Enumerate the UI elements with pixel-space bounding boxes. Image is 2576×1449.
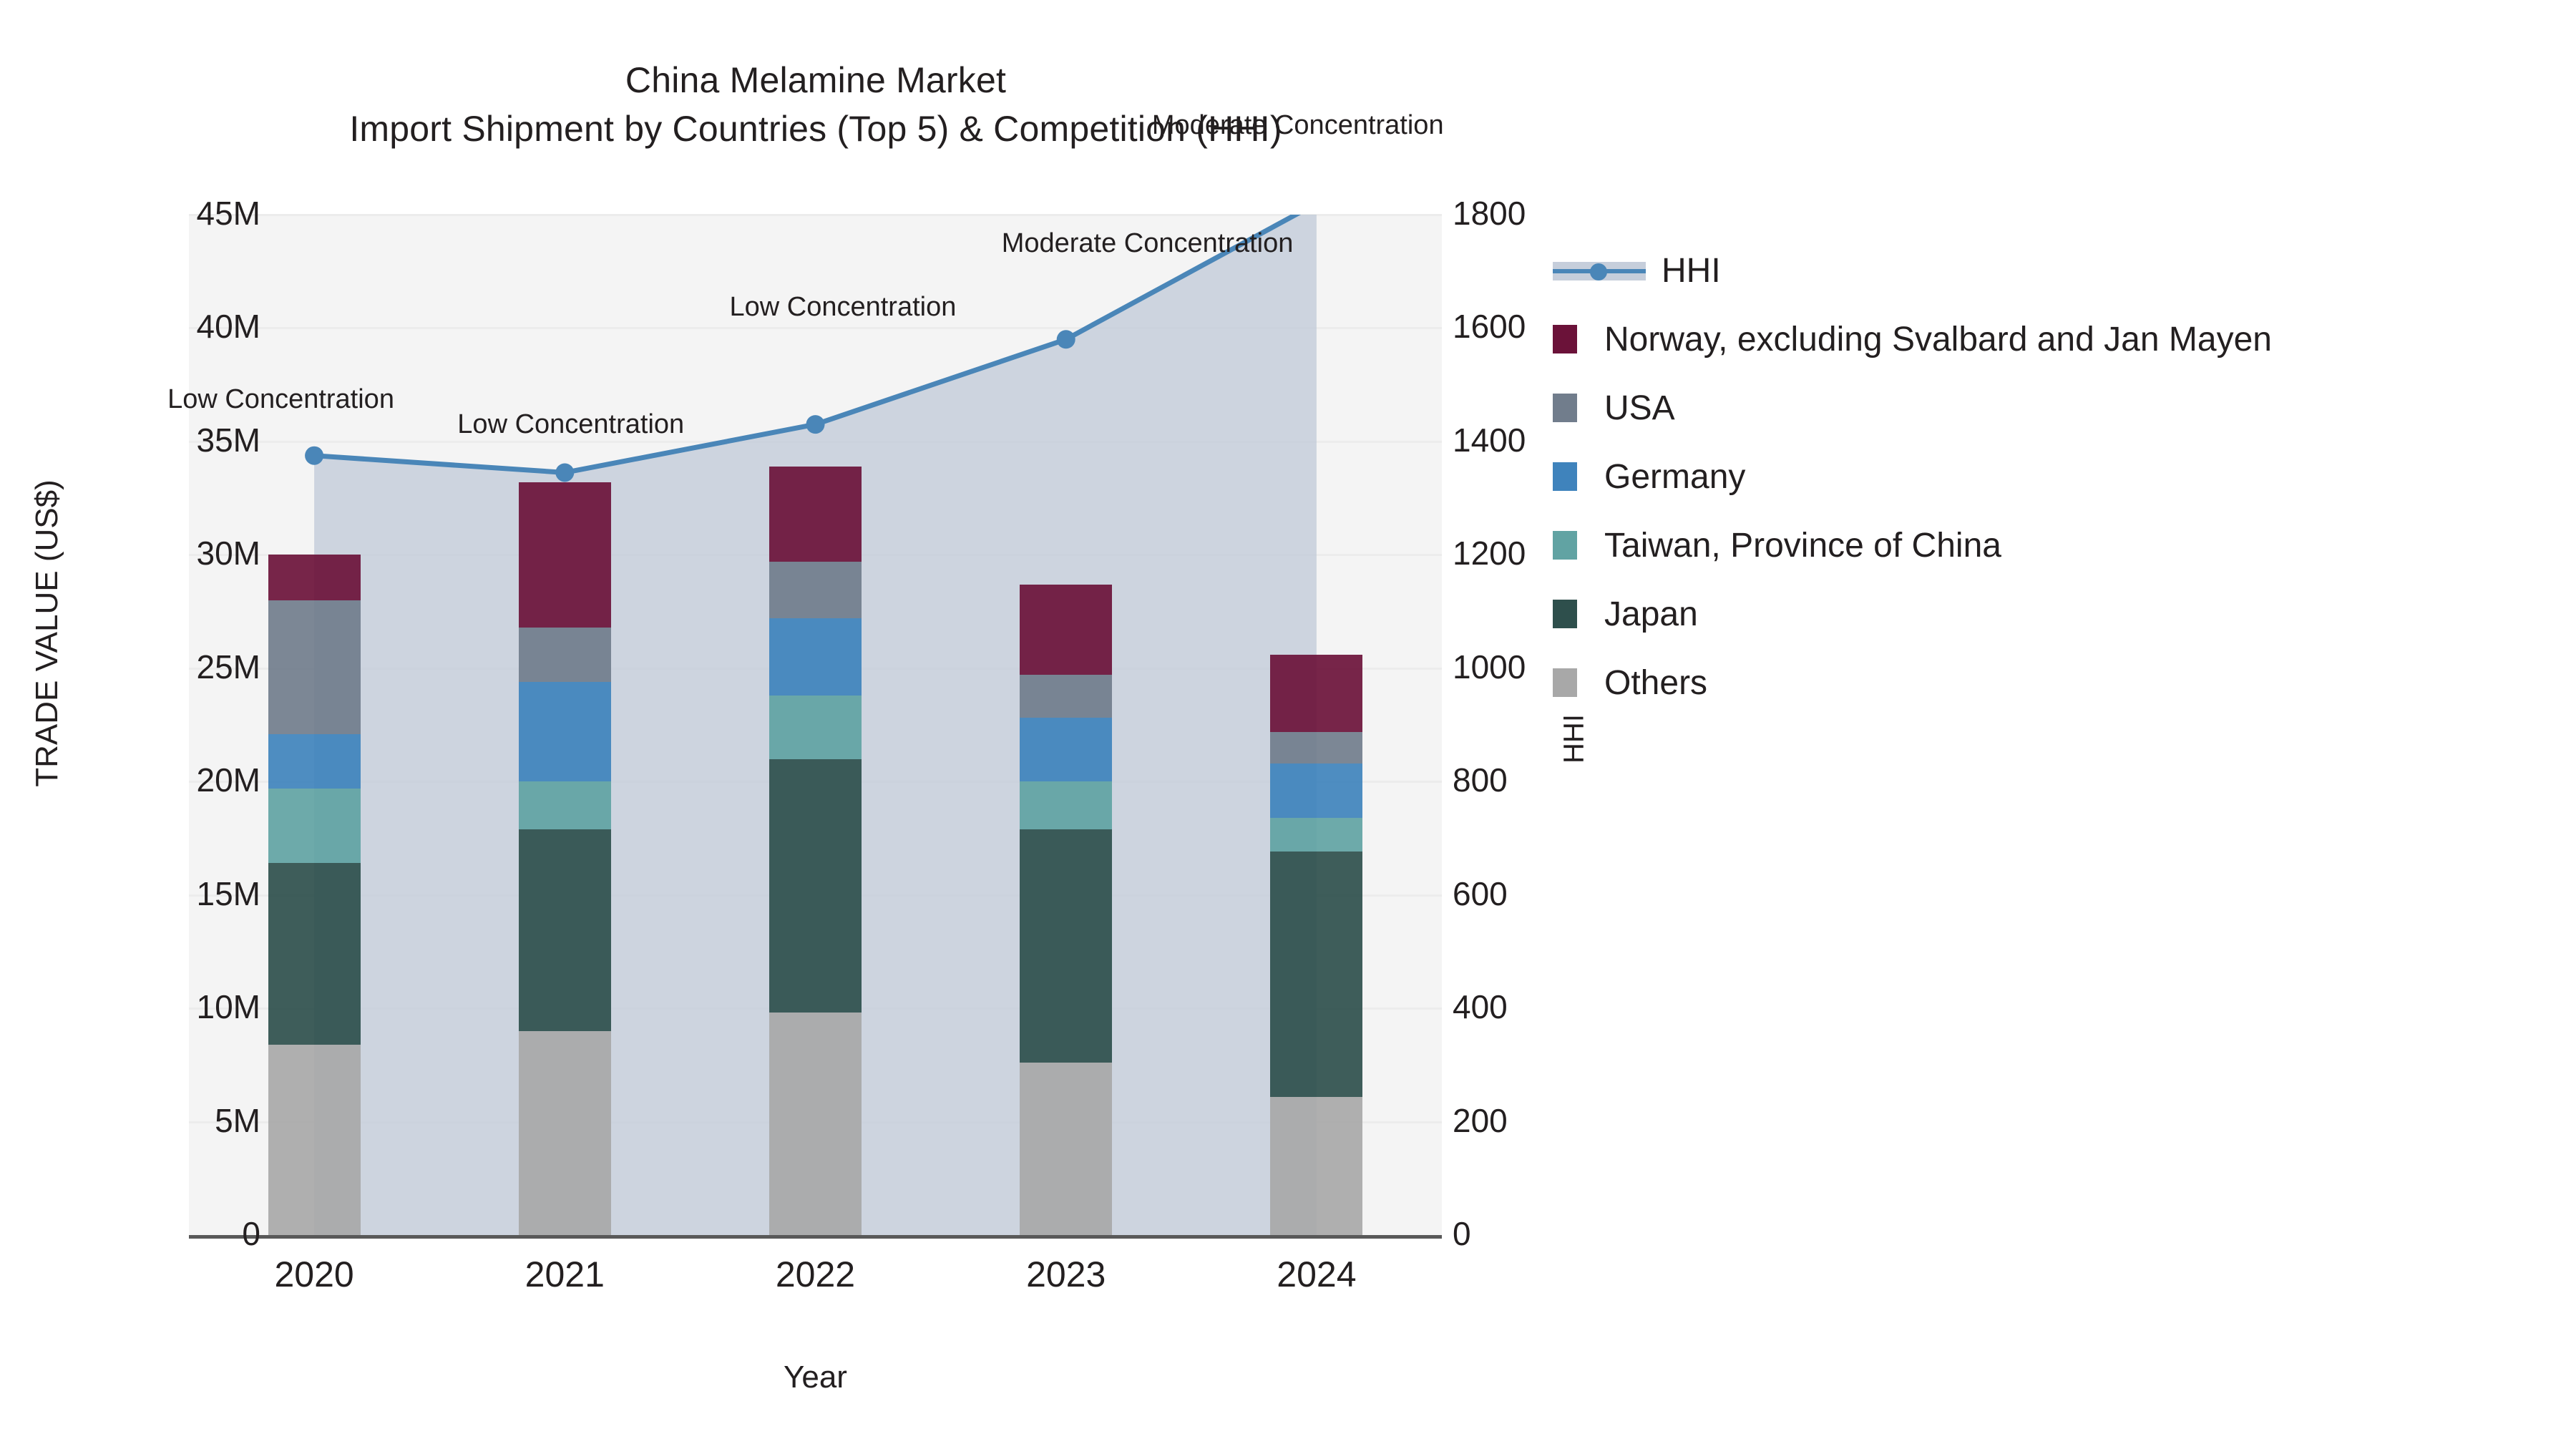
hhi-line-layer	[189, 215, 1442, 1235]
chart-title: China Melamine Market	[0, 56, 1631, 104]
hhi-marker-2022[interactable]	[806, 415, 825, 434]
chart-canvas: China Melamine Market Import Shipment by…	[0, 0, 2576, 1449]
legend-swatch-icon	[1553, 600, 1577, 628]
legend-item[interactable]: Japan	[1553, 580, 2555, 648]
y-tick-label-right: 0	[1453, 1214, 1596, 1253]
legend-item-label: Taiwan, Province of China	[1604, 526, 2001, 565]
y-tick-label-right: 600	[1453, 874, 1596, 913]
annotation-2023: Moderate Concentration	[1002, 228, 1294, 259]
chart-legend: HHINorway, excluding Svalbard and Jan Ma…	[1553, 236, 2555, 717]
annotation-2021: Low Concentration	[457, 409, 684, 440]
y-tick-label-right: 200	[1453, 1101, 1596, 1140]
legend-item[interactable]: Others	[1553, 648, 2555, 717]
annotation-2022: Low Concentration	[730, 292, 957, 323]
hhi-line-icon	[1553, 255, 1646, 286]
x-axis-line	[189, 1235, 1442, 1239]
hhi-dot-icon	[1590, 263, 1607, 280]
legend-swatch-icon	[1553, 325, 1577, 353]
legend-item-label: HHI	[1662, 251, 1721, 291]
hhi-marker-2020[interactable]	[305, 447, 323, 465]
annotation-2020: Low Concentration	[167, 384, 394, 415]
y-tick-label-right: 1800	[1453, 194, 1596, 233]
x-tick-label-2021: 2021	[472, 1254, 658, 1295]
legend-swatch-icon	[1553, 394, 1577, 422]
x-tick-label-2023: 2023	[973, 1254, 1159, 1295]
legend-item[interactable]: HHI	[1553, 236, 2555, 305]
y-tick-label-right: 400	[1453, 987, 1596, 1026]
legend-item[interactable]: Germany	[1553, 442, 2555, 511]
legend-item[interactable]: Norway, excluding Svalbard and Jan Mayen	[1553, 305, 2555, 374]
hhi-marker-2023[interactable]	[1057, 330, 1075, 348]
legend-swatch-icon	[1553, 531, 1577, 560]
legend-item-label: Japan	[1604, 595, 1698, 634]
x-axis-title: Year	[189, 1360, 1442, 1395]
legend-item-label: USA	[1604, 389, 1675, 428]
y-axis-title-left: TRADE VALUE (US$)	[29, 433, 65, 834]
legend-item-label: Norway, excluding Svalbard and Jan Mayen	[1604, 320, 2272, 359]
hhi-marker-2021[interactable]	[555, 463, 574, 482]
legend-item-label: Others	[1604, 663, 1707, 703]
legend-swatch-icon	[1553, 462, 1577, 491]
x-tick-label-2024: 2024	[1224, 1254, 1410, 1295]
legend-item[interactable]: USA	[1553, 374, 2555, 442]
x-tick-label-2022: 2022	[723, 1254, 909, 1295]
annotation-2024: Moderate Concentration	[1152, 110, 1444, 141]
x-tick-label-2020: 2020	[221, 1254, 407, 1295]
legend-item[interactable]: Taiwan, Province of China	[1553, 511, 2555, 580]
legend-swatch-icon	[1553, 668, 1577, 697]
legend-item-label: Germany	[1604, 457, 1745, 497]
